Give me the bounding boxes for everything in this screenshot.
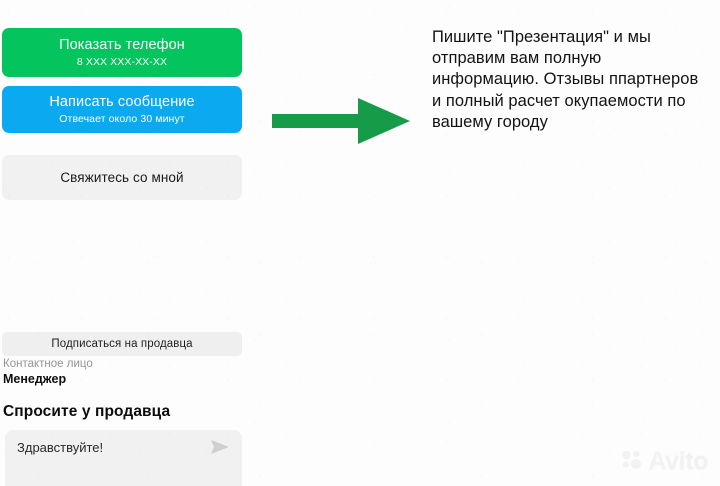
avito-watermark: Avito bbox=[620, 447, 708, 476]
contact-me-label: Свяжитесь со мной bbox=[60, 169, 183, 186]
show-phone-sublabel: 8 XXX XXX-XX-XX bbox=[77, 56, 167, 69]
avito-dots-icon bbox=[620, 447, 644, 476]
listing-contact-panel: Показать телефон 8 XXX XXX-XX-XX Написат… bbox=[0, 0, 248, 486]
send-arrow-icon[interactable] bbox=[210, 438, 230, 456]
write-message-sublabel: Отвечает около 30 минут bbox=[59, 113, 184, 126]
ask-seller-input[interactable] bbox=[17, 440, 192, 456]
right-arrow-icon bbox=[272, 96, 410, 146]
ask-seller-heading: Спросите у продавца bbox=[3, 402, 170, 421]
subscribe-to-seller-button[interactable]: Подписаться на продавца bbox=[2, 332, 242, 356]
contact-person-name: Менеджер bbox=[3, 372, 243, 387]
ask-seller-message-box[interactable] bbox=[5, 430, 242, 486]
contact-me-button[interactable]: Свяжитесь со мной bbox=[2, 155, 242, 200]
show-phone-label: Показать телефон bbox=[59, 37, 185, 54]
contact-person-label: Контактное лицо bbox=[3, 357, 243, 371]
write-message-button[interactable]: Написать сообщение Отвечает около 30 мин… bbox=[2, 86, 242, 133]
subscribe-label: Подписаться на продавца bbox=[51, 338, 192, 350]
write-message-label: Написать сообщение bbox=[49, 94, 194, 111]
avito-wordmark: Avito bbox=[648, 449, 708, 474]
annotation-caption: Пишите "Презентация" и мы отправим вам п… bbox=[432, 27, 700, 133]
show-phone-button[interactable]: Показать телефон 8 XXX XXX-XX-XX bbox=[2, 28, 242, 77]
contact-person-block: Контактное лицо Менеджер bbox=[3, 357, 243, 387]
